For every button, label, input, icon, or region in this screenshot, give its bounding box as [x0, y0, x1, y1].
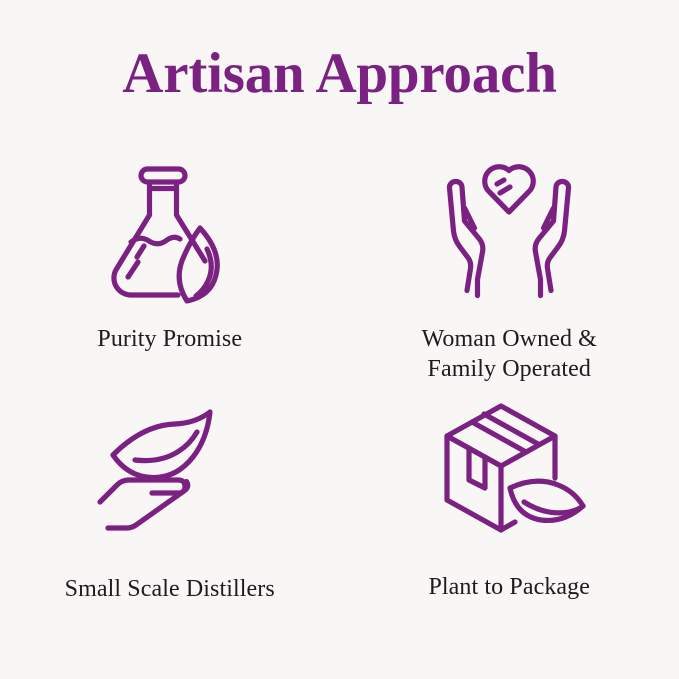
flask-leaf-icon: [90, 156, 250, 306]
feature-caption: Plant to Package: [428, 572, 590, 602]
feature-caption: Small Scale Distillers: [65, 574, 275, 604]
feature-caption: Woman Owned & Family Operated: [422, 324, 597, 385]
box-leaf-icon: [429, 396, 589, 546]
feature-item-woman-owned: Woman Owned & Family Operated: [340, 150, 679, 396]
feature-caption: Purity Promise: [97, 324, 242, 354]
page-title: Artisan Approach: [0, 44, 679, 104]
artisan-approach-graphic: Artisan Approach: [0, 0, 679, 679]
feature-item-plant-to-package: Plant to Package: [340, 396, 679, 626]
features-grid: Purity Promise: [0, 150, 679, 650]
feature-item-purity-promise: Purity Promise: [0, 150, 340, 396]
feature-item-small-scale-distillers: Small Scale Distillers: [0, 396, 340, 626]
leaf-hand-icon: [90, 398, 250, 548]
hands-heart-icon: [429, 156, 589, 306]
